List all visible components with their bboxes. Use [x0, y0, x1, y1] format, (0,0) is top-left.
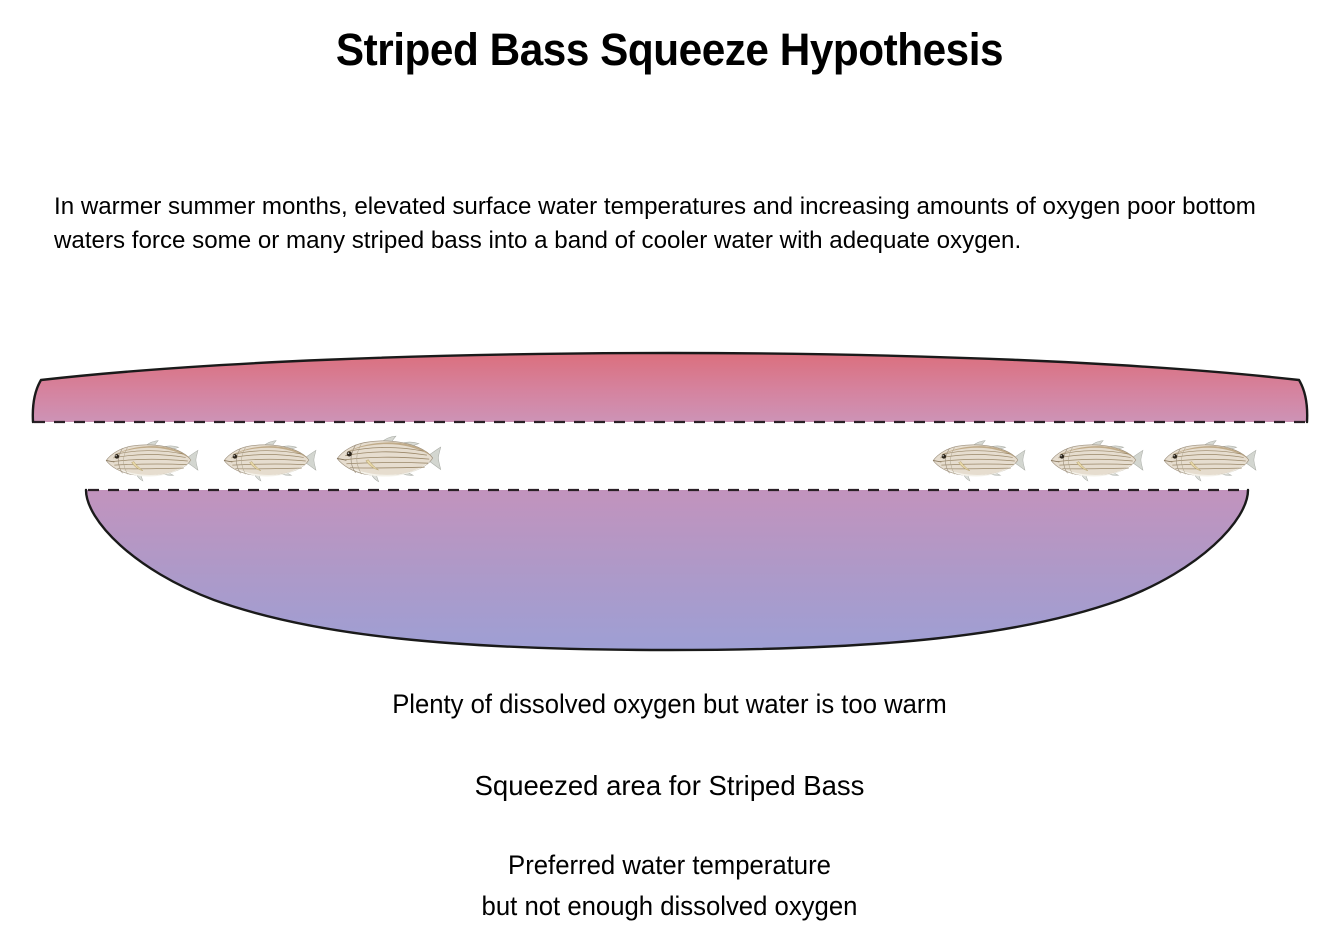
striped-bass-icon: [106, 441, 198, 481]
warm-layer-shape: [33, 353, 1307, 422]
warm-layer-label: Plenty of dissolved oxygen but water is …: [33, 688, 1305, 720]
squeeze-diagram: Plenty of dissolved oxygen but water is …: [0, 330, 1339, 660]
cold-layer-label: Preferred water temperature but not enou…: [20, 845, 1319, 927]
striped-bass-icon: [337, 436, 441, 481]
cold-layer-label-line-1: Preferred water temperature: [20, 845, 1319, 886]
striped-bass-icon: [224, 441, 316, 481]
diagram-canvas: [0, 330, 1339, 660]
cold-layer-label-line-2: but not enough dissolved oxygen: [20, 886, 1319, 927]
page-title: Striped Bass Squeeze Hypothesis: [40, 24, 1299, 76]
striped-bass-icon: [933, 441, 1025, 481]
striped-bass-icon: [1164, 441, 1256, 481]
intro-paragraph: In warmer summer months, elevated surfac…: [54, 190, 1273, 258]
striped-bass-icon: [1051, 441, 1143, 481]
squeeze-band-label: Squeezed area for Striped Bass: [0, 769, 1339, 802]
cold-layer-shape: [86, 490, 1248, 650]
